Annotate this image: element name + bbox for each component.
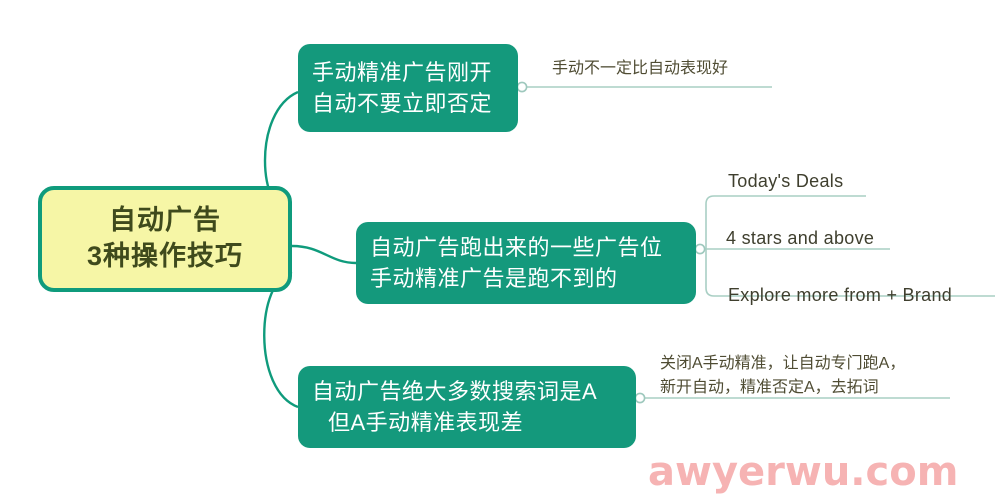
mindmap-canvas: 自动广告 3种操作技巧 手动精准广告刚开 自动不要立即否定 自动广告跑出来的一些… [0,0,1000,500]
node-dot-topic-2[interactable] [695,244,704,253]
root-node-line-2: 3种操作技巧 [87,239,243,275]
leaf-label-topic-3-1[interactable]: 关闭A手动精准，让自动专门跑A， 新开自动，精准否定A，去拓词 [660,352,905,400]
watermark: awyerwu.com [648,449,958,495]
root-node[interactable]: 自动广告 3种操作技巧 [38,186,292,292]
topic-node-1-line-2: 自动不要立即否定 [312,88,492,119]
leaf-label-topic-2-3[interactable]: Explore more from + Brand [728,285,952,306]
topic-node-2[interactable]: 自动广告跑出来的一些广告位 手动精准广告是跑不到的 [356,222,696,304]
topic-node-2-line-1: 自动广告跑出来的一些广告位 [370,232,663,263]
topic-node-3-line-2: 但A手动精准表现差 [312,407,523,438]
node-dot-topic-1[interactable] [517,82,526,91]
topic-node-1-line-1: 手动精准广告刚开 [312,57,492,88]
leaf-label-topic-2-1[interactable]: Today's Deals [728,171,843,192]
leaf-label-topic-3-1-line-2: 新开自动，精准否定A，去拓词 [660,376,905,400]
node-dot-topic-3[interactable] [635,393,644,402]
topic-node-2-line-2: 手动精准广告是跑不到的 [370,263,618,294]
leaf-label-topic-1-1[interactable]: 手动不一定比自动表现好 [552,57,728,81]
topic-node-1[interactable]: 手动精准广告刚开 自动不要立即否定 [298,44,518,132]
leaf-label-topic-2-2[interactable]: 4 stars and above [726,228,874,249]
root-node-line-1: 自动广告 [109,203,221,239]
topic-node-3[interactable]: 自动广告绝大多数搜索词是A 但A手动精准表现差 [298,366,636,448]
topic-node-3-line-1: 自动广告绝大多数搜索词是A [312,376,597,407]
leaf-label-topic-3-1-line-1: 关闭A手动精准，让自动专门跑A， [660,352,905,376]
connector-root-to-topic-2 [292,246,356,263]
connector-root-to-topic-3 [264,272,298,407]
